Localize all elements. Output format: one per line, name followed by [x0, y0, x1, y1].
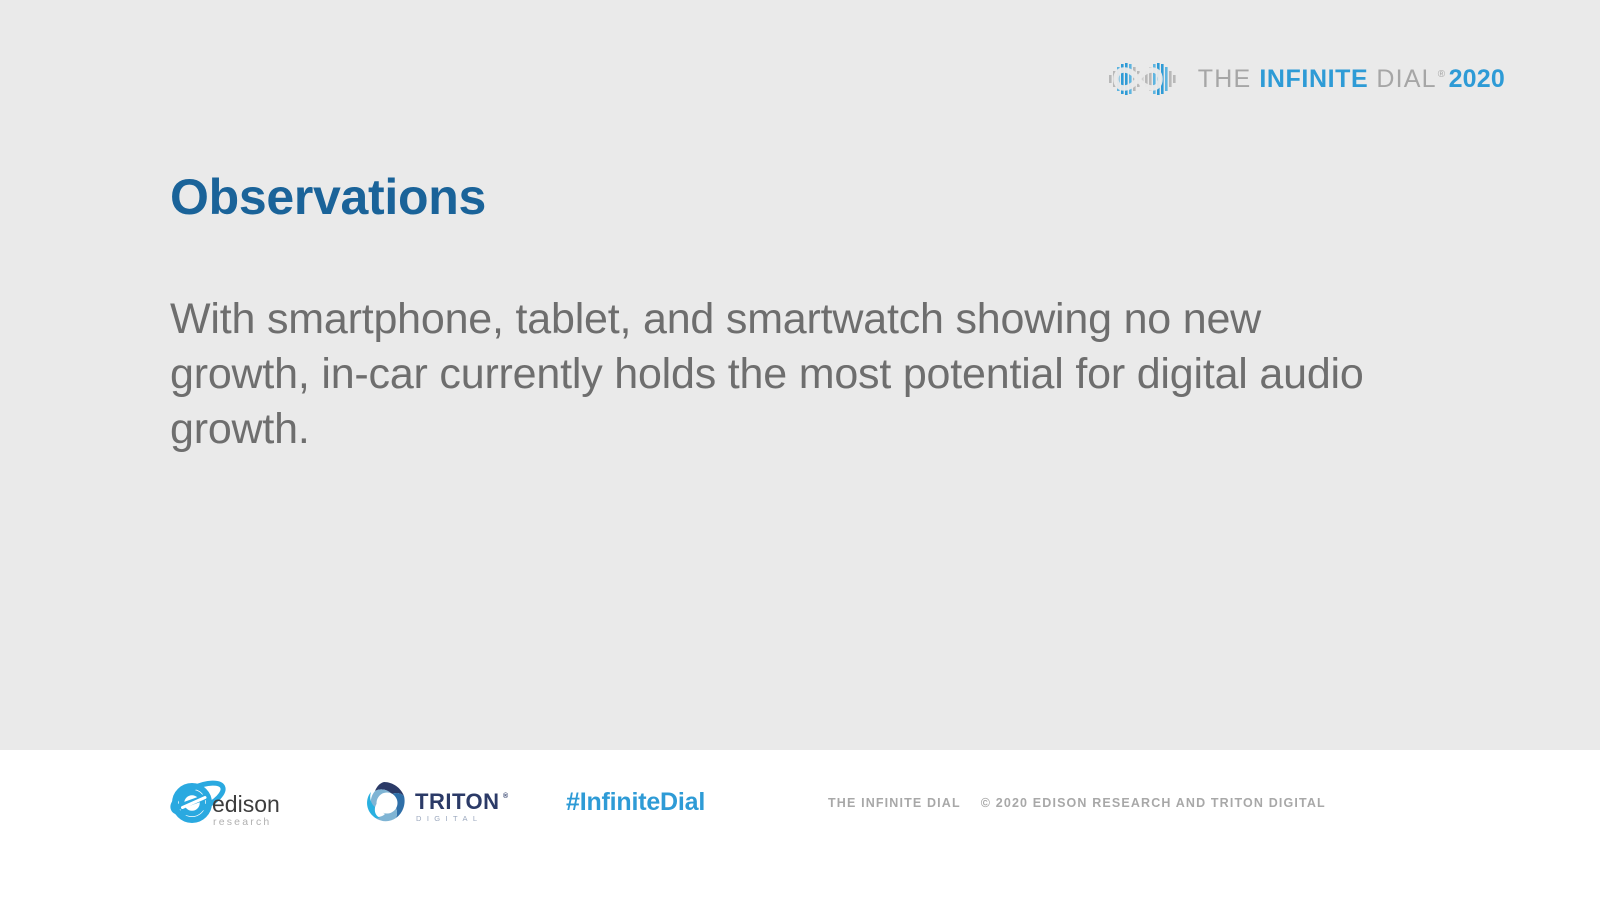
- triton-registered-mark: ®: [503, 792, 509, 800]
- edison-tagline: research: [213, 816, 271, 828]
- copyright-line: THE INFINITE DIAL © 2020 EDISON RESEARCH…: [828, 796, 1326, 810]
- brand-header: THE INFINITE DIAL ® 2020: [1108, 58, 1505, 100]
- slide: THE INFINITE DIAL ® 2020 Observations Wi…: [0, 0, 1600, 900]
- slide-body: THE INFINITE DIAL ® 2020 Observations Wi…: [0, 0, 1600, 750]
- hashtag-infinite-dial[interactable]: #InfiniteDial: [566, 788, 705, 817]
- wordmark-year: 2020: [1449, 65, 1505, 94]
- wordmark-registered-mark: ®: [1438, 69, 1446, 80]
- triton-digital-logo: TRITON ® DIGITAL: [360, 776, 510, 832]
- copyright-brand: THE INFINITE DIAL: [828, 796, 961, 810]
- edison-wordmark: edison: [212, 791, 280, 817]
- infinite-dial-waveform-icon: [1108, 58, 1184, 100]
- copyright-notice: © 2020 EDISON RESEARCH AND TRITON DIGITA…: [981, 796, 1326, 810]
- observation-text: With smartphone, tablet, and smartwatch …: [170, 292, 1400, 457]
- wordmark-infinite: INFINITE: [1259, 65, 1368, 94]
- wordmark-dial: DIAL: [1376, 65, 1436, 94]
- edison-research-logo: edison research: [166, 776, 298, 832]
- triton-wordmark: TRITON: [415, 789, 499, 814]
- brand-wordmark: THE INFINITE DIAL ® 2020: [1198, 65, 1505, 94]
- wordmark-the: THE: [1198, 65, 1252, 94]
- page-title: Observations: [170, 168, 486, 226]
- triton-tagline: DIGITAL: [416, 814, 482, 823]
- triton-circle-icon: [367, 782, 405, 821]
